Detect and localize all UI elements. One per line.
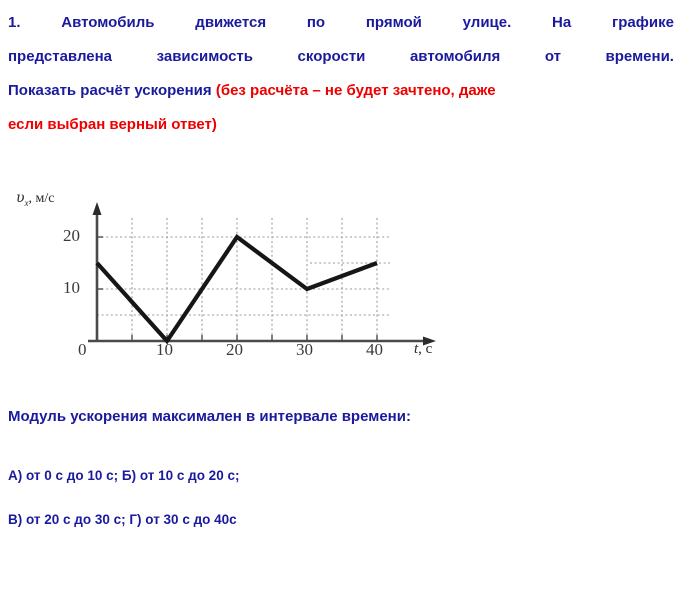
question-word: графике (612, 6, 674, 40)
question-word: зависимость (157, 40, 253, 74)
chart-ytick-label-10: 10 (63, 278, 80, 298)
answer-option-row-2[interactable]: В) от 20 с до 30 с; Г) от 30 с до 40с (8, 512, 237, 527)
question-red-segment: (без расчёта – не будет зачтено, даже (216, 82, 496, 99)
chart-xtick-label-30: 30 (296, 340, 313, 360)
question-word: времени. (606, 40, 674, 74)
chart-xtick-label-20: 20 (226, 340, 243, 360)
worksheet-page: 1. Автомобиль движется по прямой улице. … (0, 0, 682, 607)
question-word: по (307, 6, 325, 40)
y-axis-arrow-icon (93, 202, 102, 215)
question-line-3: Показать расчёт ускорения (без расчёта –… (8, 74, 674, 108)
question-word: автомобиля (410, 40, 500, 74)
question-line-1: 1. Автомобиль движется по прямой улице. … (8, 6, 674, 40)
velocity-time-chart: 0 10 20 30 40 10 20 (0, 178, 470, 373)
question-word: На (552, 6, 571, 40)
question-line-4: если выбран верный ответ) (8, 108, 674, 142)
question-word: представлена (8, 40, 112, 74)
answer-option-row-1[interactable]: А) от 0 с до 10 с; Б) от 10 с до 20 с; (8, 468, 239, 483)
question-word: скорости (298, 40, 366, 74)
x-axis-arrow-icon (423, 337, 436, 346)
question-blue-segment: Показать расчёт ускорения (8, 82, 216, 99)
question-text-block: 1. Автомобиль движется по прямой улице. … (8, 6, 674, 142)
question-word: Автомобиль (61, 6, 154, 40)
prompt-question: Модуль ускорения максимален в интервале … (8, 408, 411, 425)
question-word: прямой (366, 6, 422, 40)
question-word: улице. (463, 6, 512, 40)
chart-xtick-label-40: 40 (366, 340, 383, 360)
chart-ytick-label-20: 20 (63, 226, 80, 246)
question-line-2: представлена зависимость скорости автомо… (8, 40, 674, 74)
question-word: движется (195, 6, 266, 40)
chart-xtick-label-10: 10 (156, 340, 173, 360)
question-word: 1. (8, 6, 21, 40)
chart-vertical-gridlines (132, 218, 377, 341)
chart-origin-label: 0 (78, 340, 87, 360)
question-red-segment-cont: если выбран верный ответ) (8, 116, 217, 133)
question-word: от (545, 40, 561, 74)
